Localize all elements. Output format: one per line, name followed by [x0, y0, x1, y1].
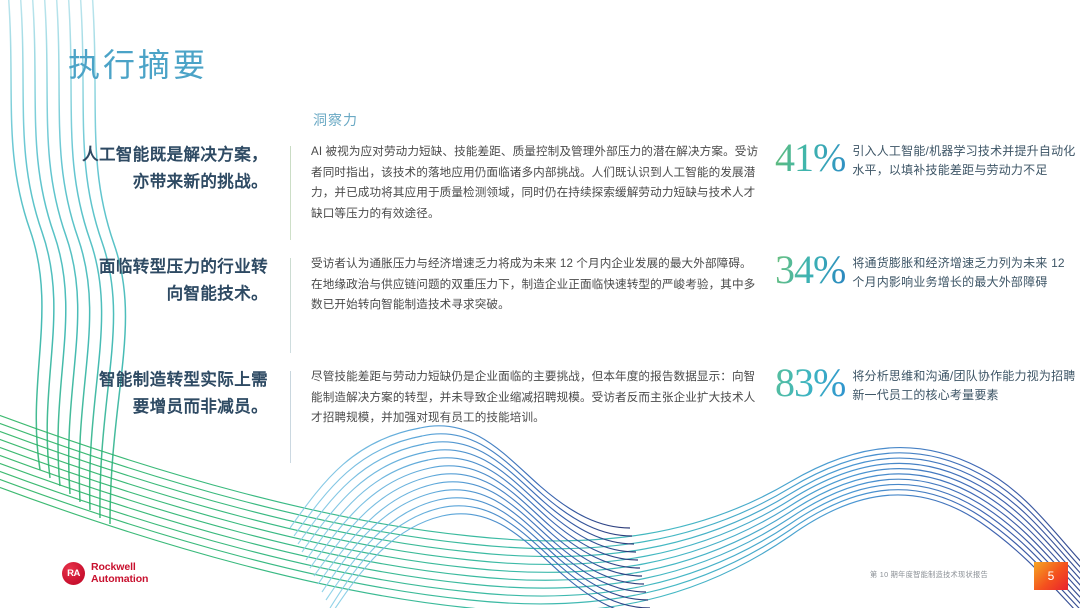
summary-row: 智能制造转型实际上需 要增员而非减员。 尽管技能差距与劳动力短缺仍是企业面临的主… — [0, 367, 1080, 477]
rockwell-automation-logo: RA Rockwell Automation — [62, 562, 148, 586]
stat-description: 引入人工智能/机器学习技术并提升自动化水平，以填补技能差距与劳动力不足 — [852, 144, 1075, 177]
row-heading-line: 亦带来新的挑战。 — [0, 169, 268, 196]
summary-row: 人工智能既是解决方案， 亦带来新的挑战。 AI 被视为应对劳动力短缺、技能差距、… — [0, 142, 1080, 254]
row-heading: 面临转型压力的行业转 向智能技术。 — [0, 254, 290, 307]
stat-value: 41% — [775, 138, 845, 178]
row-heading: 人工智能既是解决方案， 亦带来新的挑战。 — [0, 142, 290, 195]
row-stat: 34% 将通货膨胀和经济增速乏力列为未来 12 个月内影响业务增长的最大外部障碍 — [761, 254, 1080, 291]
insight-column-label: 洞察力 — [313, 110, 358, 130]
row-body-text: AI 被视为应对劳动力短缺、技能差距、质量控制及管理外部压力的潜在解决方案。受访… — [291, 142, 761, 225]
stat-description: 将通货膨胀和经济增速乏力列为未来 12 个月内影响业务增长的最大外部障碍 — [852, 256, 1064, 289]
summary-rows: 人工智能既是解决方案， 亦带来新的挑战。 AI 被视为应对劳动力短缺、技能差距、… — [0, 142, 1080, 477]
row-heading-line: 人工智能既是解决方案， — [0, 142, 268, 169]
row-body-text: 尽管技能差距与劳动力短缺仍是企业面临的主要挑战，但本年度的报告数据显示：向智能制… — [291, 367, 761, 429]
row-heading-line: 向智能技术。 — [0, 281, 268, 308]
stat-value: 83% — [775, 363, 845, 403]
logo-line-2: Automation — [91, 574, 148, 586]
row-stat: 83% 将分析思维和沟通/团队协作能力视为招聘新一代员工的核心考量要素 — [761, 367, 1080, 404]
summary-row: 面临转型压力的行业转 向智能技术。 受访者认为通胀压力与经济增速乏力将成为未来 … — [0, 254, 1080, 367]
stat-description: 将分析思维和沟通/团队协作能力视为招聘新一代员工的核心考量要素 — [852, 369, 1075, 402]
footer-report-note: 第 10 期年度智能制造技术现状报告 — [870, 570, 988, 580]
page-title: 执行摘要 — [68, 40, 208, 86]
row-body-text: 受访者认为通胀压力与经济增速乏力将成为未来 12 个月内企业发展的最大外部障碍。… — [291, 254, 761, 316]
page-number-badge: 5 — [1034, 562, 1068, 590]
row-stat: 41% 引入人工智能/机器学习技术并提升自动化水平，以填补技能差距与劳动力不足 — [761, 142, 1080, 179]
logo-wordmark: Rockwell Automation — [91, 562, 148, 586]
logo-line-1: Rockwell — [91, 562, 148, 574]
row-heading-line: 面临转型压力的行业转 — [0, 254, 268, 281]
ra-badge-icon: RA — [62, 562, 85, 585]
row-heading: 智能制造转型实际上需 要增员而非减员。 — [0, 367, 290, 420]
stat-value: 34% — [775, 250, 845, 290]
row-heading-line: 要增员而非减员。 — [0, 394, 268, 421]
row-heading-line: 智能制造转型实际上需 — [0, 367, 268, 394]
